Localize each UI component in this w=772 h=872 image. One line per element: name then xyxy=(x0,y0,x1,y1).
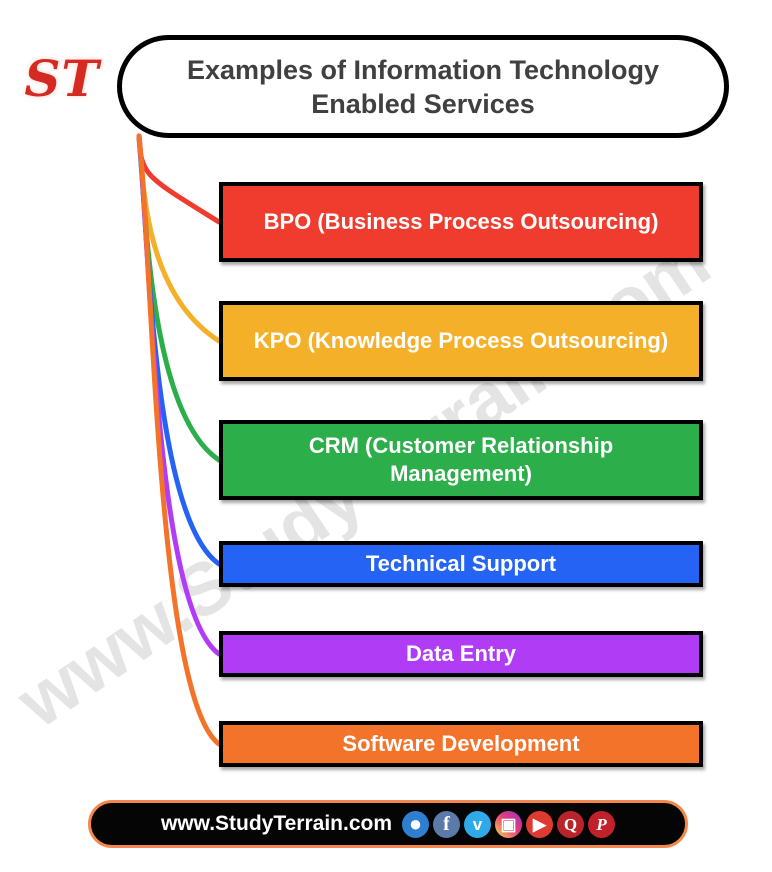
instagram-icon[interactable]: ▣ xyxy=(495,811,522,838)
pinterest-icon[interactable]: P xyxy=(588,811,615,838)
diagram-canvas: www.StudyTerrain.com ST Examples of Info… xyxy=(0,0,772,872)
service-box-label: BPO (Business Process Outsourcing) xyxy=(252,208,671,236)
service-box[interactable]: Software Development xyxy=(219,721,703,767)
connector-line xyxy=(139,136,219,744)
quora-icon[interactable]: Q xyxy=(557,811,584,838)
service-box[interactable]: BPO (Business Process Outsourcing) xyxy=(219,182,703,262)
twitter-icon[interactable]: ᴠ xyxy=(464,811,491,838)
service-box-label: Technical Support xyxy=(354,550,568,578)
footer-url[interactable]: www.StudyTerrain.com xyxy=(161,812,392,836)
service-box-label: Software Development xyxy=(330,730,591,758)
service-box[interactable]: KPO (Knowledge Process Outsourcing) xyxy=(219,301,703,381)
connector-line xyxy=(139,136,219,341)
service-box-label: KPO (Knowledge Process Outsourcing) xyxy=(242,327,680,355)
diagram-title-box: Examples of Information Technology Enabl… xyxy=(117,35,729,138)
page-title-line1: Examples of Information Technology xyxy=(187,55,659,85)
footer-bar: www.StudyTerrain.com ●fᴠ▣▶QP xyxy=(88,800,688,848)
service-box-label: CRM (Customer Relationship Management) xyxy=(223,432,699,488)
page-title-line2: Enabled Services xyxy=(311,89,535,119)
connector-line xyxy=(139,136,219,654)
connector-line xyxy=(139,136,219,460)
service-box[interactable]: Technical Support xyxy=(219,541,703,587)
connector-line xyxy=(139,136,219,564)
connector-line xyxy=(139,136,219,222)
service-box[interactable]: CRM (Customer Relationship Management) xyxy=(219,420,703,500)
social-links: ●fᴠ▣▶QP xyxy=(402,811,615,838)
service-box-label: Data Entry xyxy=(394,640,528,668)
site-logo-text: ST xyxy=(24,49,99,108)
facebook-icon[interactable]: f xyxy=(433,811,460,838)
page-title: Examples of Information Technology Enabl… xyxy=(161,53,685,121)
globe-icon[interactable]: ● xyxy=(402,811,429,838)
service-box[interactable]: Data Entry xyxy=(219,631,703,677)
site-logo: ST xyxy=(16,44,108,114)
youtube-icon[interactable]: ▶ xyxy=(526,811,553,838)
